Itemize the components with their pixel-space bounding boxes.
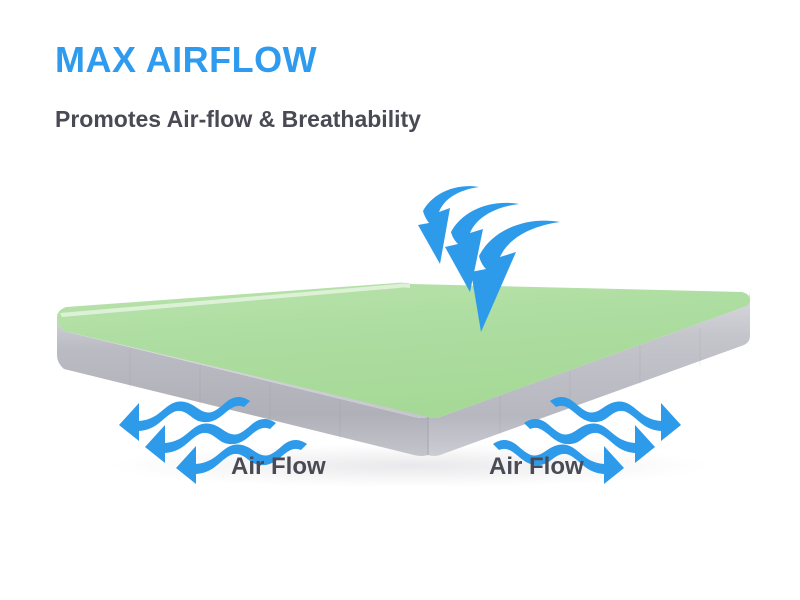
airflow-label-left: Air Flow: [231, 455, 326, 479]
mattress-airflow-illustration: [0, 0, 800, 600]
illustration-canvas: MAX AIRFLOW Promotes Air-flow & Breathab…: [0, 0, 800, 600]
airflow-label-right: Air Flow: [489, 455, 584, 479]
